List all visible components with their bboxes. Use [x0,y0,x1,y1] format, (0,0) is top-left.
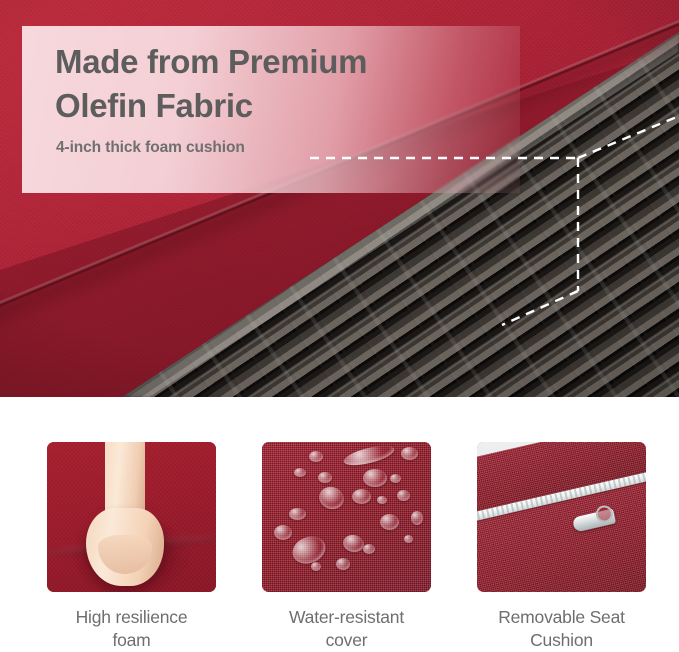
hero-subtitle: 4-inch thick foam cushion [56,139,245,157]
feature-thumb-hand-pressing-foam [47,442,216,592]
water-droplet [289,508,306,520]
feature-caption: Water-resistant cover [289,606,404,652]
feature-strip: High resilience foam [0,397,679,652]
water-droplet [318,472,332,483]
feature-caption: High resilience foam [76,606,188,652]
water-droplet [377,496,387,504]
feature-thumb-zipper [477,442,646,592]
headline-panel: Made from Premium Olefin Fabric 4-inch t… [22,26,520,193]
feature-card-removable-seat-cushion: Removable Seat Cushion [477,397,646,652]
page-title: Made from Premium Olefin Fabric [55,40,495,128]
water-droplet [401,447,418,460]
feature-card-high-resilience-foam: High resilience foam [47,397,216,652]
water-droplet [411,511,423,525]
water-droplet [390,474,401,483]
water-droplet [294,468,306,477]
water-droplet [352,489,371,504]
water-droplet [311,562,321,571]
water-droplet [274,525,292,540]
feature-thumb-water-droplets [262,442,431,592]
water-droplet [336,558,350,570]
water-droplet [404,535,413,543]
feature-card-water-resistant-cover: Water-resistant cover [262,397,431,652]
product-feature-image: Made from Premium Olefin Fabric 4-inch t… [0,0,679,652]
feature-caption: Removable Seat Cushion [498,606,625,652]
hero-image: Made from Premium Olefin Fabric 4-inch t… [0,0,679,397]
